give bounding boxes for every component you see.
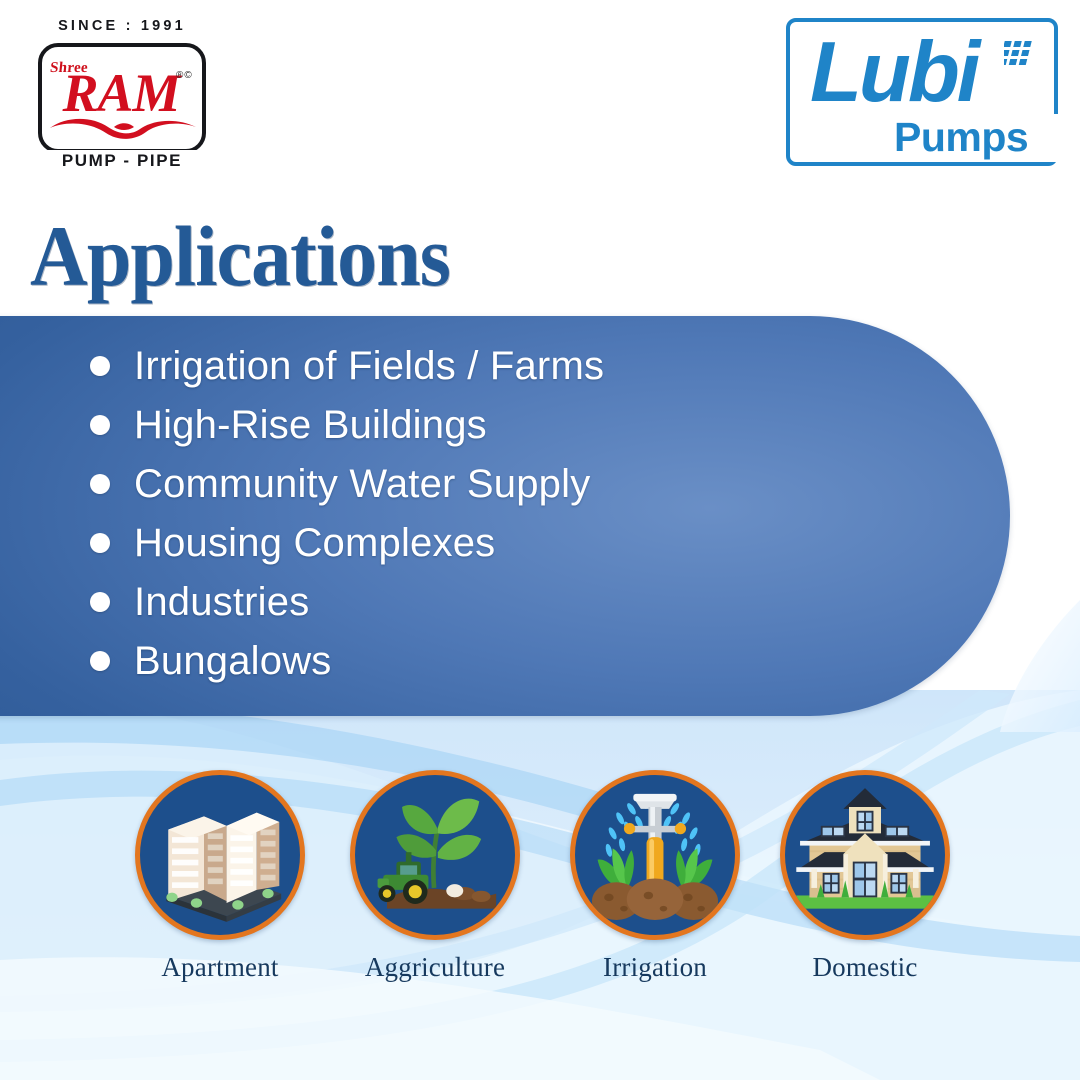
list-item-label: Bungalows <box>134 639 331 683</box>
bullet-icon <box>90 415 110 435</box>
sprinkler-soil-icon <box>570 770 740 940</box>
house-icon <box>780 770 950 940</box>
lubi-wordmark: Lubi <box>810 30 977 115</box>
ram-wordmark: RAM <box>46 66 196 120</box>
list-item: Bungalows <box>90 631 970 690</box>
list-item: Community Water Supply <box>90 454 970 513</box>
icon-label: Domestic <box>760 952 970 982</box>
icon-label: Aggriculture <box>330 952 540 982</box>
list-item-label: Irrigation of Fields / Farms <box>134 344 604 388</box>
bullet-icon <box>90 474 110 494</box>
ram-tagline: PUMP - PIPE <box>22 150 222 172</box>
list-item-label: High-Rise Buildings <box>134 403 487 447</box>
icon-cell-apartment: Apartment <box>115 770 325 982</box>
ram-registered-mark: ®© <box>176 70 193 81</box>
poster-canvas: SINCE : 1991 Shree RAM ®© PUMP - PIPE Lu… <box>0 0 1080 1080</box>
bullet-icon <box>90 356 110 376</box>
lubi-grid-dots-icon <box>1004 40 1038 66</box>
list-item-label: Housing Complexes <box>134 521 495 565</box>
ram-swash-icon <box>44 114 202 142</box>
list-item: Industries <box>90 572 970 631</box>
ram-since-text: SINCE : 1991 <box>22 18 222 34</box>
list-item-label: Community Water Supply <box>134 462 590 506</box>
bullet-icon <box>90 533 110 553</box>
applications-list: Irrigation of Fields / Farms High-Rise B… <box>90 336 970 690</box>
icon-cell-irrigation: Irrigation <box>550 770 760 982</box>
shree-ram-logo: SINCE : 1991 Shree RAM ®© PUMP - PIPE <box>22 18 222 170</box>
list-item: High-Rise Buildings <box>90 395 970 454</box>
icon-cell-agriculture: Aggriculture <box>330 770 540 982</box>
list-item: Housing Complexes <box>90 513 970 572</box>
lubi-sub-wordmark-wrap: Pumps <box>886 114 1058 162</box>
bullet-icon <box>90 592 110 612</box>
list-item: Irrigation of Fields / Farms <box>90 336 970 395</box>
application-icons-row: Apartment <box>0 770 1080 1030</box>
list-item-label: Industries <box>134 580 309 624</box>
lubi-sub-wordmark: Pumps <box>894 114 1028 160</box>
icon-cell-domestic: Domestic <box>760 770 970 982</box>
page-title: Applications <box>30 210 450 302</box>
bullet-icon <box>90 651 110 671</box>
apartment-buildings-icon <box>135 770 305 940</box>
tractor-plant-icon <box>350 770 520 940</box>
icon-label: Apartment <box>115 952 325 982</box>
icon-label: Irrigation <box>550 952 760 982</box>
lubi-pumps-logo: Lubi Pumps <box>786 18 1058 166</box>
